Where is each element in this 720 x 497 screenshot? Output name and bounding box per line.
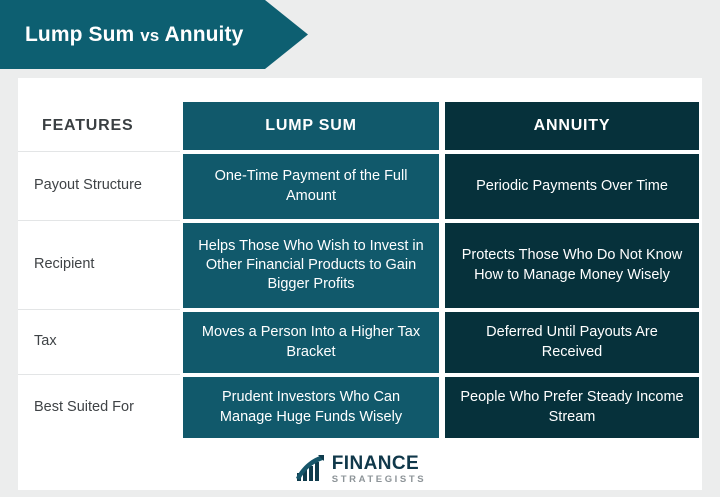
row-feature-cell: Best Suited For	[18, 375, 180, 440]
table-header-row: FEATURES LUMP SUM ANNUITY	[18, 100, 702, 152]
title-banner: Lump Sum vs Annuity	[0, 0, 308, 69]
page-title-vs: vs	[140, 26, 159, 45]
annuity-value: Protects Those Who Do Not Know How to Ma…	[445, 223, 699, 308]
feature-label: Tax	[18, 310, 180, 375]
table-row: Best Suited For Prudent Investors Who Ca…	[18, 375, 702, 440]
bar-chart-arrow-icon	[294, 454, 325, 484]
row-lump-sum-cell: Helps Those Who Wish to Invest in Other …	[180, 221, 442, 310]
annuity-value: Deferred Until Payouts Are Received	[445, 312, 699, 373]
row-annuity-cell: Deferred Until Payouts Are Received	[442, 310, 702, 375]
brand-logo: FINANCE STRATEGISTS	[0, 449, 720, 489]
comparison-table: FEATURES LUMP SUM ANNUITY Payout Structu…	[18, 100, 702, 440]
column-header-features: FEATURES	[18, 100, 180, 152]
table-header-cell-features: FEATURES	[18, 100, 180, 152]
feature-label: Payout Structure	[18, 152, 180, 221]
row-feature-cell: Tax	[18, 310, 180, 375]
row-annuity-cell: Protects Those Who Do Not Know How to Ma…	[442, 221, 702, 310]
row-feature-cell: Recipient	[18, 221, 180, 310]
table-header-cell-lump-sum: LUMP SUM	[180, 100, 442, 152]
comparison-card: FEATURES LUMP SUM ANNUITY Payout Structu…	[18, 78, 702, 490]
lump-sum-value: Helps Those Who Wish to Invest in Other …	[183, 223, 439, 308]
annuity-value: Periodic Payments Over Time	[445, 154, 699, 219]
lump-sum-value: Prudent Investors Who Can Manage Huge Fu…	[183, 377, 439, 438]
row-annuity-cell: People Who Prefer Steady Income Stream	[442, 375, 702, 440]
brand-name-main: FINANCE	[332, 454, 426, 473]
lump-sum-value: One-Time Payment of the Full Amount	[183, 154, 439, 219]
brand-logo-text: FINANCE STRATEGISTS	[332, 454, 426, 485]
page-title: Lump Sum vs Annuity	[0, 23, 243, 47]
row-annuity-cell: Periodic Payments Over Time	[442, 152, 702, 221]
table-row: Payout Structure One-Time Payment of the…	[18, 152, 702, 221]
column-header-annuity: ANNUITY	[445, 102, 699, 150]
row-lump-sum-cell: One-Time Payment of the Full Amount	[180, 152, 442, 221]
lump-sum-value: Moves a Person Into a Higher Tax Bracket	[183, 312, 439, 373]
annuity-value: People Who Prefer Steady Income Stream	[445, 377, 699, 438]
column-header-lump-sum: LUMP SUM	[183, 102, 439, 150]
brand-name-sub: STRATEGISTS	[332, 475, 426, 485]
table-row: Tax Moves a Person Into a Higher Tax Bra…	[18, 310, 702, 375]
table-row: Recipient Helps Those Who Wish to Invest…	[18, 221, 702, 310]
row-feature-cell: Payout Structure	[18, 152, 180, 221]
title-banner-shape: Lump Sum vs Annuity	[0, 0, 308, 69]
row-lump-sum-cell: Prudent Investors Who Can Manage Huge Fu…	[180, 375, 442, 440]
page-title-part1: Lump Sum	[25, 23, 134, 46]
row-lump-sum-cell: Moves a Person Into a Higher Tax Bracket	[180, 310, 442, 375]
table-header-cell-annuity: ANNUITY	[442, 100, 702, 152]
feature-label: Recipient	[18, 221, 180, 310]
page-title-part2: Annuity	[165, 23, 244, 46]
feature-label: Best Suited For	[18, 375, 180, 440]
